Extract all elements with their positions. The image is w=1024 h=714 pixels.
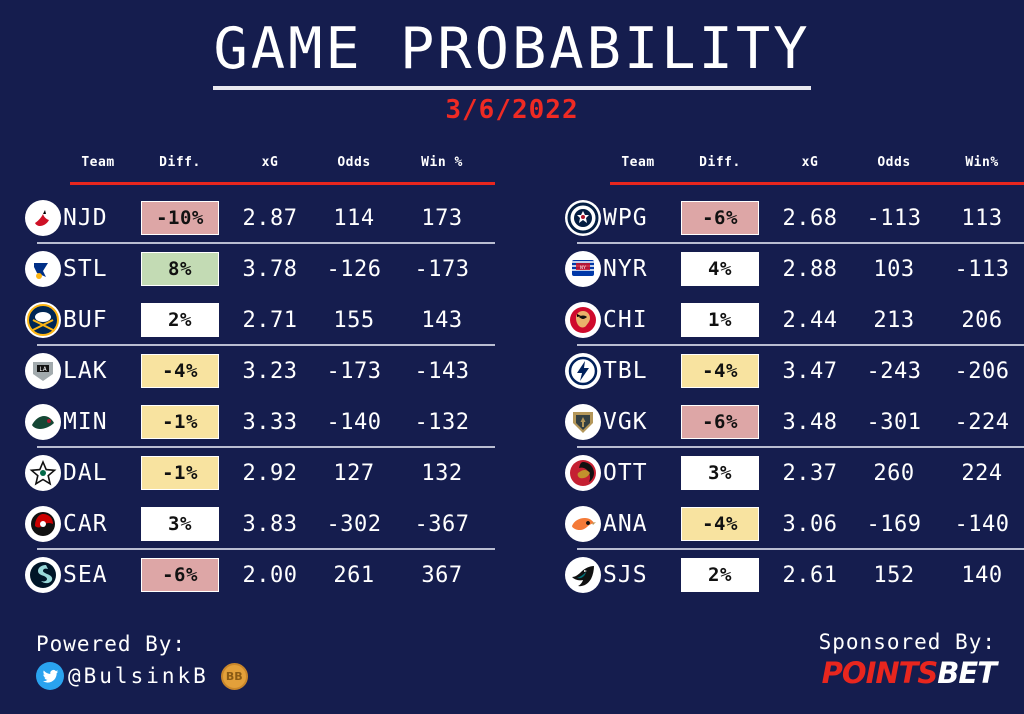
author-handle-row[interactable]: @BulsinkB BB [36, 662, 248, 690]
sjs-logo [565, 557, 601, 593]
xg-value: 2.37 [769, 448, 851, 499]
team-abbrev: NYR [603, 244, 648, 295]
njd-logo [25, 200, 61, 236]
win-pct-value: 367 [397, 550, 487, 601]
odds-value: -140 [311, 397, 397, 448]
win-pct-value: 206 [937, 295, 1024, 346]
table-row: DAL-1%2.92127132 [25, 448, 495, 499]
min-logo [25, 404, 61, 440]
win-pct-value: 173 [397, 193, 487, 244]
odds-value: -126 [311, 244, 397, 295]
table-row: BUF2%2.71155143 [25, 295, 495, 346]
odds-value: -169 [851, 499, 937, 550]
xg-value: 2.88 [769, 244, 851, 295]
team-abbrev: SEA [63, 550, 108, 601]
left-table: Team Diff. xG Odds Win % NJD-10%2.871141… [25, 155, 495, 185]
dal-logo [25, 455, 61, 491]
odds-value: -301 [851, 397, 937, 448]
xg-value: 2.00 [229, 550, 311, 601]
win-pct-value: 132 [397, 448, 487, 499]
diff-badge: 3% [681, 456, 759, 490]
column-header-diff: Diff. [141, 155, 219, 170]
team-abbrev: NJD [63, 193, 108, 244]
bb-coin-icon: BB [221, 663, 248, 690]
table-row: SEA-6%2.00261367 [25, 550, 495, 601]
car-logo [25, 506, 61, 542]
column-header-win: Win% [937, 155, 1024, 170]
right-table: Team Diff. xG Odds Win% WPG-6%2.68-11311… [565, 155, 1024, 185]
table-row: OTT3%2.37260224 [565, 448, 1024, 499]
buf-logo [25, 302, 61, 338]
team-abbrev: OTT [603, 448, 648, 499]
right-table-header: Team Diff. xG Odds Win% [565, 155, 1024, 185]
chi-logo [565, 302, 601, 338]
diff-badge: -4% [681, 507, 759, 541]
team-abbrev: SJS [603, 550, 648, 601]
table-row: MIN-1%3.33-140-132 [25, 397, 495, 448]
game-probability-graphic: GAME PROBABILITY 3/6/2022 Team Diff. xG … [0, 0, 1024, 714]
win-pct-value: 140 [937, 550, 1024, 601]
odds-value: 127 [311, 448, 397, 499]
odds-value: -302 [311, 499, 397, 550]
xg-value: 2.87 [229, 193, 311, 244]
xg-value: 3.06 [769, 499, 851, 550]
tbl-logo [565, 353, 601, 389]
xg-value: 2.68 [769, 193, 851, 244]
table-row: LALAK-4%3.23-173-143 [25, 346, 495, 397]
table-row: CAR3%3.83-302-367 [25, 499, 495, 550]
win-pct-value: 224 [937, 448, 1024, 499]
powered-by-label: Powered By: [36, 632, 186, 656]
author-handle: @BulsinkB [68, 664, 209, 688]
team-abbrev: LAK [63, 346, 108, 397]
win-pct-value: -140 [937, 499, 1024, 550]
team-abbrev: DAL [63, 448, 108, 499]
odds-value: -113 [851, 193, 937, 244]
diff-badge: -10% [141, 201, 219, 235]
xg-value: 2.44 [769, 295, 851, 346]
odds-value: 114 [311, 193, 397, 244]
win-pct-value: -113 [937, 244, 1024, 295]
left-table-header: Team Diff. xG Odds Win % [25, 155, 495, 185]
xg-value: 3.33 [229, 397, 311, 448]
team-abbrev: BUF [63, 295, 108, 346]
odds-value: 152 [851, 550, 937, 601]
lak-logo: LA [25, 353, 61, 389]
sponsored-by-label: Sponsored By: [819, 630, 996, 654]
xg-value: 2.92 [229, 448, 311, 499]
xg-value: 2.71 [229, 295, 311, 346]
table-row: NYNYR4%2.88103-113 [565, 244, 1024, 295]
pointsbet-bet: BET [937, 656, 996, 690]
odds-value: -243 [851, 346, 937, 397]
diff-badge: -4% [141, 354, 219, 388]
table-row: NJD-10%2.87114173 [25, 193, 495, 244]
right-table-rows: WPG-6%2.68-113113NYNYR4%2.88103-113CHI1%… [565, 193, 1024, 601]
diff-badge: -6% [681, 201, 759, 235]
table-row: WPG-6%2.68-113113 [565, 193, 1024, 244]
xg-value: 2.61 [769, 550, 851, 601]
sea-logo [25, 557, 61, 593]
odds-value: 260 [851, 448, 937, 499]
odds-value: 261 [311, 550, 397, 601]
odds-value: 155 [311, 295, 397, 346]
odds-value: -173 [311, 346, 397, 397]
team-abbrev: WPG [603, 193, 648, 244]
header-rule [70, 182, 495, 185]
diff-badge: 2% [141, 303, 219, 337]
team-abbrev: VGK [603, 397, 648, 448]
table-row: CHI1%2.44213206 [565, 295, 1024, 346]
ott-logo [565, 455, 601, 491]
column-header-xg: xG [769, 155, 851, 170]
xg-value: 3.47 [769, 346, 851, 397]
diff-badge: -1% [141, 456, 219, 490]
wpg-logo [565, 200, 601, 236]
svg-text:LA: LA [39, 366, 47, 373]
team-abbrev: CAR [63, 499, 108, 550]
nyr-logo: NY [565, 251, 601, 287]
table-row: ANA-4%3.06-169-140 [565, 499, 1024, 550]
xg-value: 3.78 [229, 244, 311, 295]
diff-badge: 1% [681, 303, 759, 337]
team-abbrev: CHI [603, 295, 648, 346]
odds-value: 103 [851, 244, 937, 295]
twitter-icon [36, 662, 64, 690]
diff-badge: -6% [141, 558, 219, 592]
pointsbet-points: POINTS [822, 656, 938, 690]
column-header-team: Team [603, 155, 673, 170]
team-abbrev: ANA [603, 499, 648, 550]
pointsbet-logo[interactable]: POINTSBET [819, 656, 996, 690]
win-pct-value: 143 [397, 295, 487, 346]
odds-value: 213 [851, 295, 937, 346]
win-pct-value: -206 [937, 346, 1024, 397]
xg-value: 3.23 [229, 346, 311, 397]
diff-badge: 2% [681, 558, 759, 592]
ana-logo [565, 506, 601, 542]
diff-badge: 3% [141, 507, 219, 541]
table-row: STL8%3.78-126-173 [25, 244, 495, 295]
column-header-team: Team [63, 155, 133, 170]
sponsor-block: Sponsored By: POINTSBET [819, 630, 996, 690]
diff-badge: -6% [681, 405, 759, 439]
vgk-logo [565, 404, 601, 440]
column-header-xg: xG [229, 155, 311, 170]
team-abbrev: STL [63, 244, 108, 295]
page-title-wrap: GAME PROBABILITY [0, 20, 1024, 90]
win-pct-value: -143 [397, 346, 487, 397]
table-row: TBL-4%3.47-243-206 [565, 346, 1024, 397]
team-abbrev: TBL [603, 346, 648, 397]
column-header-diff: Diff. [681, 155, 759, 170]
page-title: GAME PROBABILITY [213, 20, 810, 90]
diff-badge: 8% [141, 252, 219, 286]
win-pct-value: 113 [937, 193, 1024, 244]
win-pct-value: -367 [397, 499, 487, 550]
xg-value: 3.83 [229, 499, 311, 550]
column-header-win: Win % [397, 155, 487, 170]
svg-text:NY: NY [580, 265, 586, 271]
diff-badge: -4% [681, 354, 759, 388]
win-pct-value: -173 [397, 244, 487, 295]
win-pct-value: -224 [937, 397, 1024, 448]
win-pct-value: -132 [397, 397, 487, 448]
diff-badge: -1% [141, 405, 219, 439]
page-date: 3/6/2022 [0, 95, 1024, 125]
column-header-odds: Odds [311, 155, 397, 170]
team-abbrev: MIN [63, 397, 108, 448]
table-row: SJS2%2.61152140 [565, 550, 1024, 601]
left-table-rows: NJD-10%2.87114173STL8%3.78-126-173BUF2%2… [25, 193, 495, 601]
table-row: VGK-6%3.48-301-224 [565, 397, 1024, 448]
stl-logo [25, 251, 61, 287]
diff-badge: 4% [681, 252, 759, 286]
header-rule [610, 182, 1024, 185]
column-header-odds: Odds [851, 155, 937, 170]
xg-value: 3.48 [769, 397, 851, 448]
